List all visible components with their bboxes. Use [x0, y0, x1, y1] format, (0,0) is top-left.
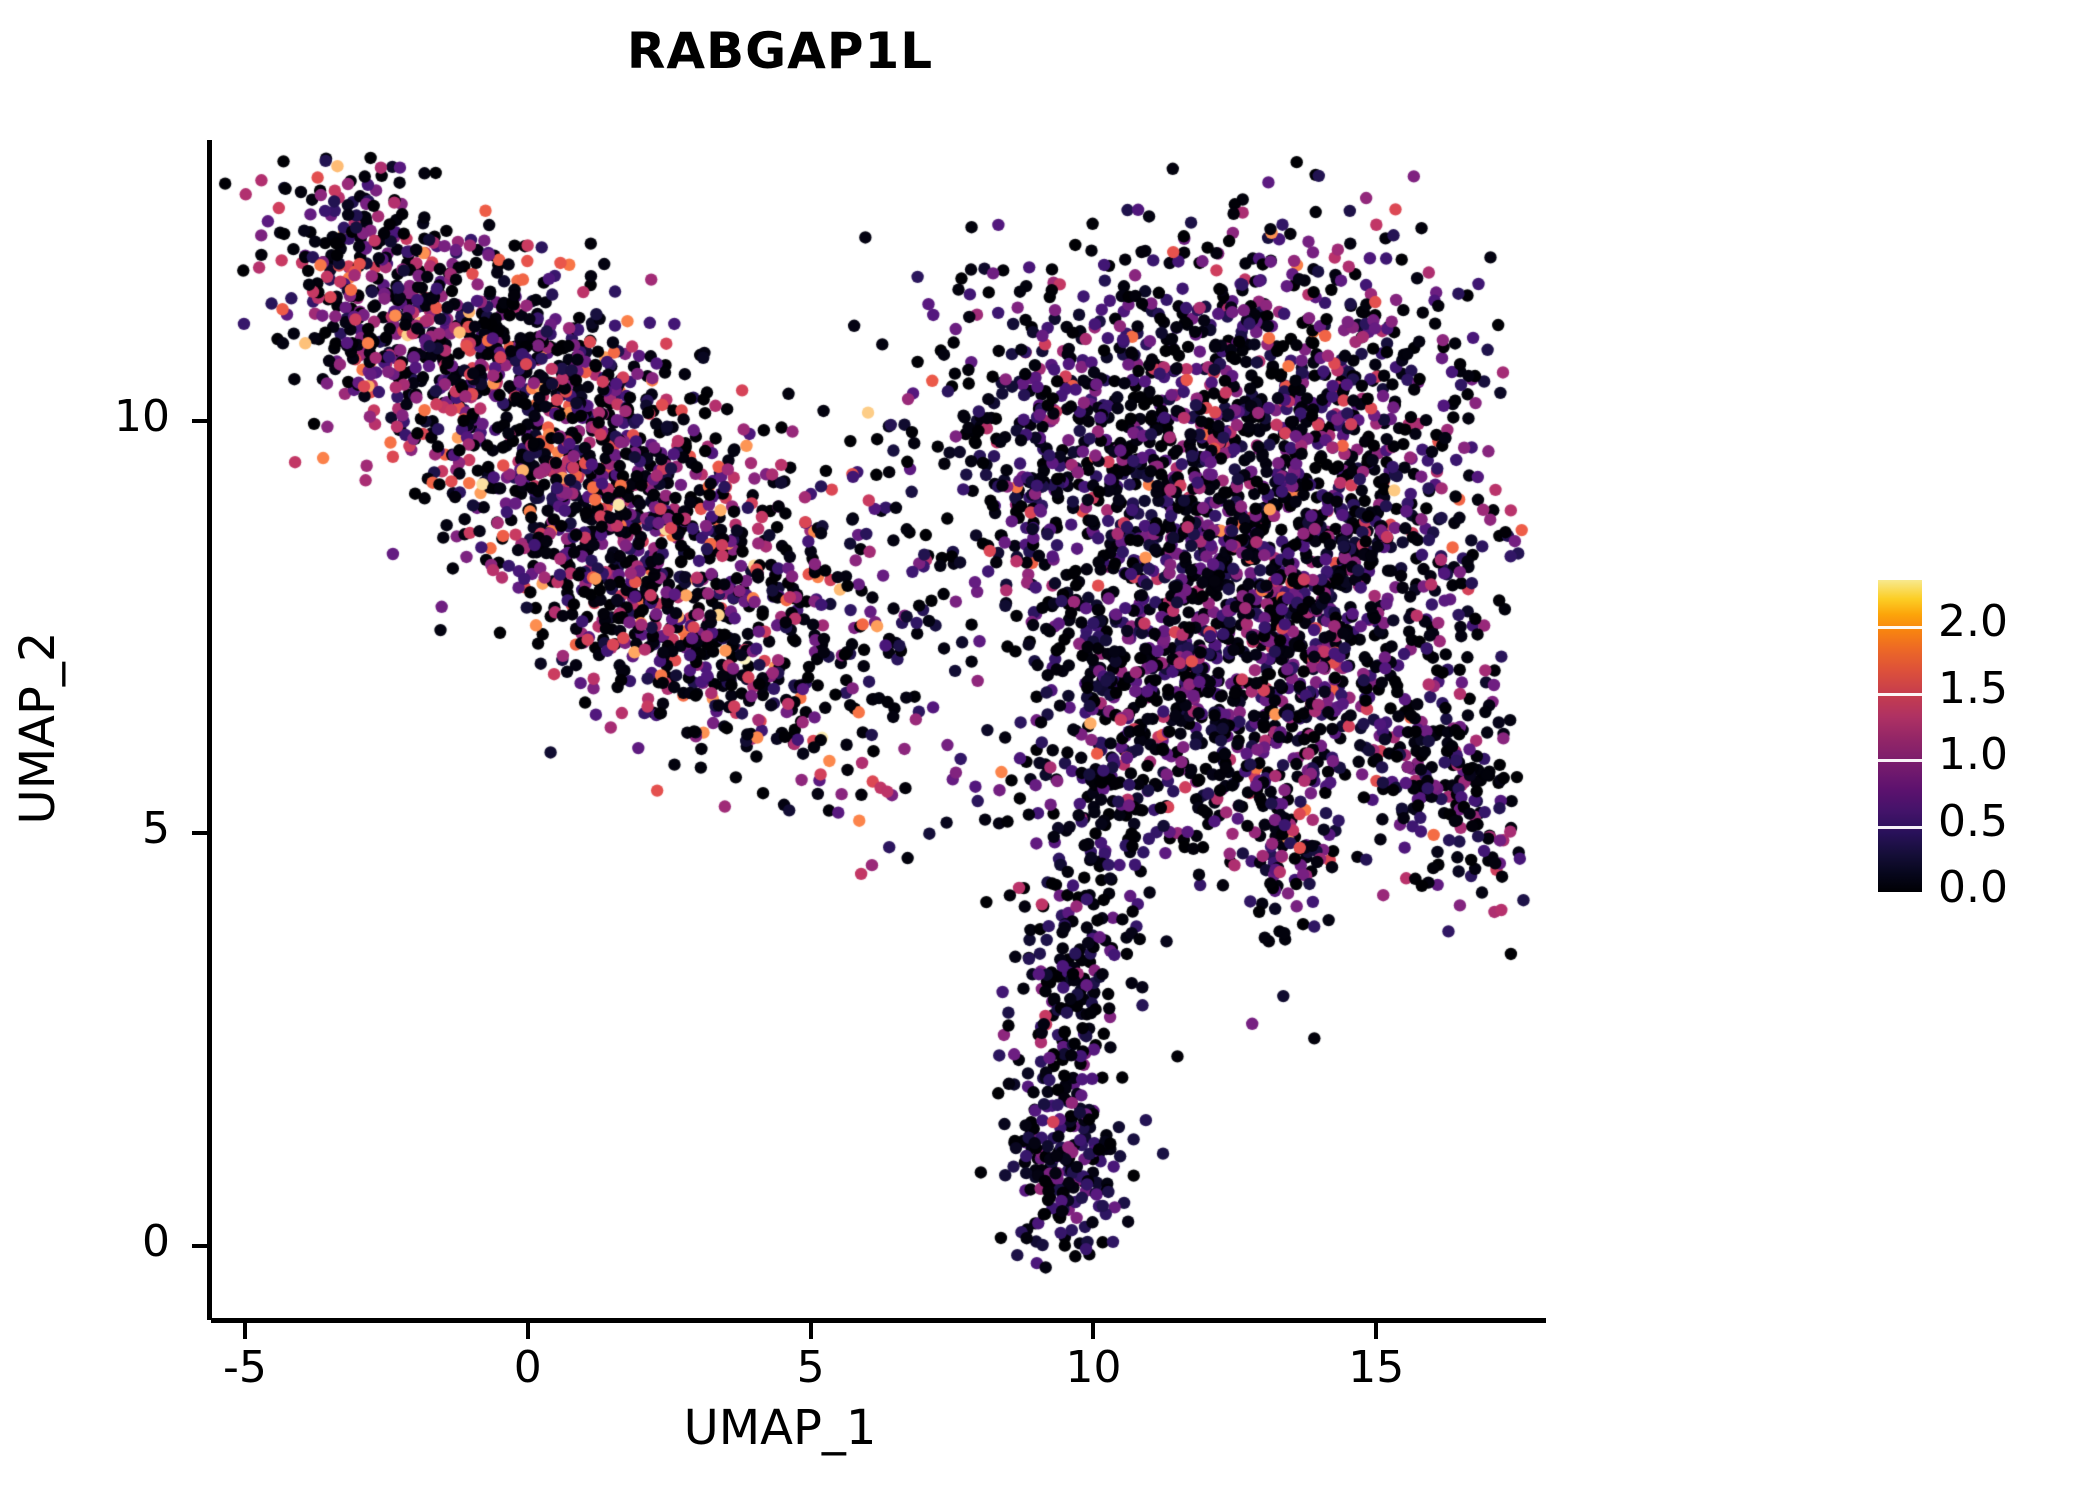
scatter-plot-area: [211, 140, 1546, 1320]
x-axis-label: UMAP_1: [0, 1400, 1560, 1456]
x-axis-spine: [211, 1318, 1546, 1323]
colorbar-tick-label: 2.0: [1938, 596, 2008, 647]
x-tick-mark: [526, 1323, 530, 1339]
figure-root: RABGAP1L -5051015 0510 UMAP_1 UMAP_2 0.0…: [0, 0, 2100, 1500]
x-tick-label: 0: [448, 1342, 608, 1393]
x-tick-label: -5: [165, 1342, 325, 1393]
y-tick-label: 0: [30, 1216, 170, 1267]
colorbar-tick-gap: [1889, 693, 1911, 696]
y-tick-mark: [192, 419, 208, 423]
colorbar-tick-gap: [1889, 759, 1911, 762]
x-tick-mark: [809, 1323, 813, 1339]
y-axis-spine: [207, 140, 212, 1320]
colorbar-tick-label: 1.0: [1938, 729, 2008, 780]
y-tick-mark: [192, 831, 208, 835]
x-tick-label: 5: [731, 1342, 891, 1393]
colorbar: 0.00.51.01.52.0: [1878, 580, 2078, 892]
x-tick-mark: [1374, 1323, 1378, 1339]
scatter-points-canvas: [211, 140, 1546, 1320]
colorbar-tick-gap: [1889, 892, 1911, 895]
y-tick-mark: [192, 1244, 208, 1248]
y-axis-label: UMAP_2: [10, 428, 66, 1028]
colorbar-tick-label: 0.5: [1938, 796, 2008, 847]
colorbar-tick-label: 1.5: [1938, 663, 2008, 714]
x-tick-label: 15: [1296, 1342, 1456, 1393]
page-title: RABGAP1L: [0, 22, 1560, 80]
colorbar-tick-gap: [1889, 626, 1911, 629]
colorbar-tick-label: 0.0: [1938, 862, 2008, 913]
colorbar-tick-gap: [1889, 826, 1911, 829]
x-tick-mark: [1091, 1323, 1095, 1339]
x-tick-label: 10: [1013, 1342, 1173, 1393]
x-tick-mark: [243, 1323, 247, 1339]
